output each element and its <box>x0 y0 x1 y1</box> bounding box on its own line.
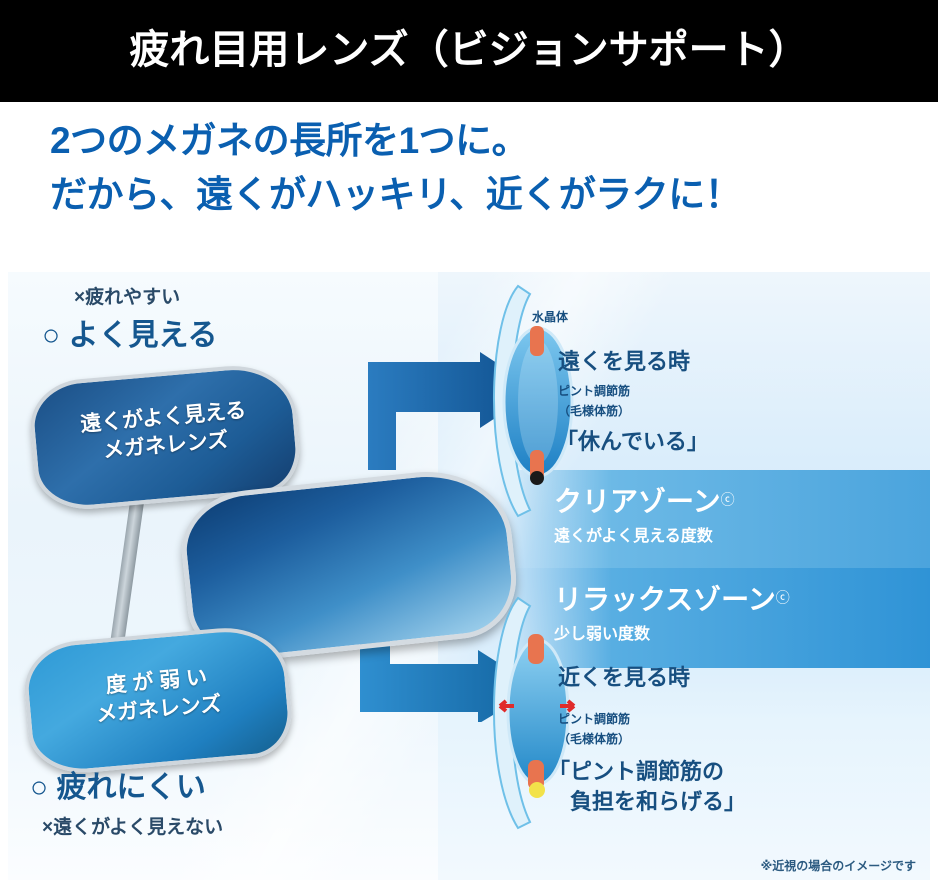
eye-bottom-state-line-2: 負担を和らげる」 <box>570 784 746 816</box>
eye-bottom-title: 近くを見る時 <box>558 660 690 692</box>
relax-zone-subtitle: 少し弱い度数 <box>554 620 790 644</box>
header-bar: 疲れ目用レンズ（ビジョンサポート） <box>0 0 938 102</box>
eye-top-muscle-label-2: （毛様体筋） <box>558 402 630 419</box>
eye-top-lens-label: 水晶体 <box>532 308 568 325</box>
lens-bottom-line-1: 度 が 弱 い <box>105 666 208 698</box>
lens-weak-power-label: 度 が 弱 い メガネレンズ <box>28 657 288 735</box>
relax-zone-label: リラックスゾーンⓒ 少し弱い度数 <box>554 578 790 644</box>
lead-copy: 2つのメガネの長所を1つに。 だから、遠くがハッキリ、近くがラクに！ <box>50 118 910 218</box>
eye-top-muscle-label-1: ピント調節筋 <box>558 382 630 399</box>
page-title: 疲れ目用レンズ（ビジョンサポート） <box>0 22 938 78</box>
lead-line-2: だから、遠くがハッキリ、近くがラクに！ <box>50 172 910 218</box>
caption-cannot-see-far: ×遠くがよく見えない <box>42 812 223 839</box>
relax-zone-title-row: リラックスゾーンⓒ <box>554 578 790 618</box>
eye-bottom-state-line-1: 「ピント調節筋の <box>548 754 724 786</box>
footnote: ※近視の場合のイメージです <box>761 857 916 874</box>
lead-line-1: 2つのメガネの長所を1つに。 <box>50 120 528 161</box>
lens-bottom-line-2: メガネレンズ <box>95 693 222 727</box>
caption-sees-well: ○ よく見える <box>42 310 218 354</box>
relax-zone-copyright-mark: ⓒ <box>776 590 790 606</box>
eye-top-state: 「休んでいる」 <box>556 424 709 456</box>
eye-top-title: 遠くを見る時 <box>558 344 690 376</box>
lens-top-line-2: メガネレンズ <box>102 429 229 463</box>
eye-bottom-muscle-label-2: （毛様体筋） <box>558 730 630 747</box>
caption-tired-easily: ×疲れやすい <box>74 282 180 309</box>
diagram-panel: 遠くがよく見える メガネレンズ 度 が 弱 い メガネレンズ ×疲れやすい ○ … <box>8 272 930 880</box>
page-root: 疲れ目用レンズ（ビジョンサポート） 2つのメガネの長所を1つに。 だから、遠くが… <box>0 0 938 889</box>
caption-not-tired: ○ 疲れにくい <box>30 762 206 806</box>
lens-weak-power: 度 が 弱 い メガネレンズ <box>21 623 295 778</box>
eye-bottom-muscle-label-1: ピント調節筋 <box>558 710 630 727</box>
lens-distance-vision-label: 遠くがよく見える メガネレンズ <box>34 393 296 471</box>
clear-zone-copyright-mark: ⓒ <box>721 492 735 508</box>
